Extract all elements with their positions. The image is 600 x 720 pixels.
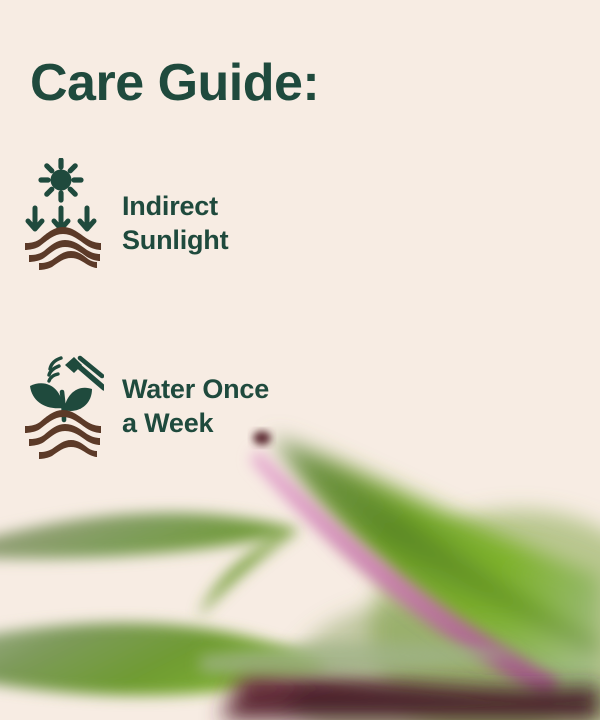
- water-once-a-week-icon: [22, 348, 104, 460]
- soil-waves-icon: [25, 227, 101, 270]
- sage-slim-leaf: [200, 643, 520, 676]
- sprout-leaf-icon: [30, 383, 63, 408]
- care-label-line-1: Water Once: [122, 374, 269, 404]
- page-title: Care Guide:: [30, 52, 319, 114]
- background-foliage-haze: [290, 510, 600, 720]
- care-label-line-1: Indirect: [122, 191, 218, 221]
- thin-arc-leaf: [0, 513, 300, 618]
- care-label-line-2: Sunlight: [122, 223, 228, 257]
- purple-underside-leaf: [220, 672, 600, 720]
- indirect-sunlight-icon: [22, 158, 104, 270]
- care-item-indirect-sunlight: Indirect Sunlight: [22, 158, 228, 270]
- main-leaf: [272, 436, 600, 710]
- care-item-water-once-a-week: Water Once a Week: [22, 348, 269, 460]
- down-arrow-icon: [28, 208, 94, 229]
- care-item-label: Indirect Sunlight: [122, 189, 228, 257]
- care-item-label: Water Once a Week: [122, 372, 269, 440]
- sun-icon: [41, 160, 81, 200]
- lower-left-leaf: [0, 623, 330, 696]
- sprout-leaf-icon: [64, 388, 92, 411]
- spray-lines-icon: [49, 358, 61, 381]
- pink-stem: [250, 450, 560, 700]
- care-guide-card: Care Guide:: [0, 0, 600, 720]
- watering-nozzle-icon: [65, 357, 104, 388]
- care-label-line-2: a Week: [122, 406, 269, 440]
